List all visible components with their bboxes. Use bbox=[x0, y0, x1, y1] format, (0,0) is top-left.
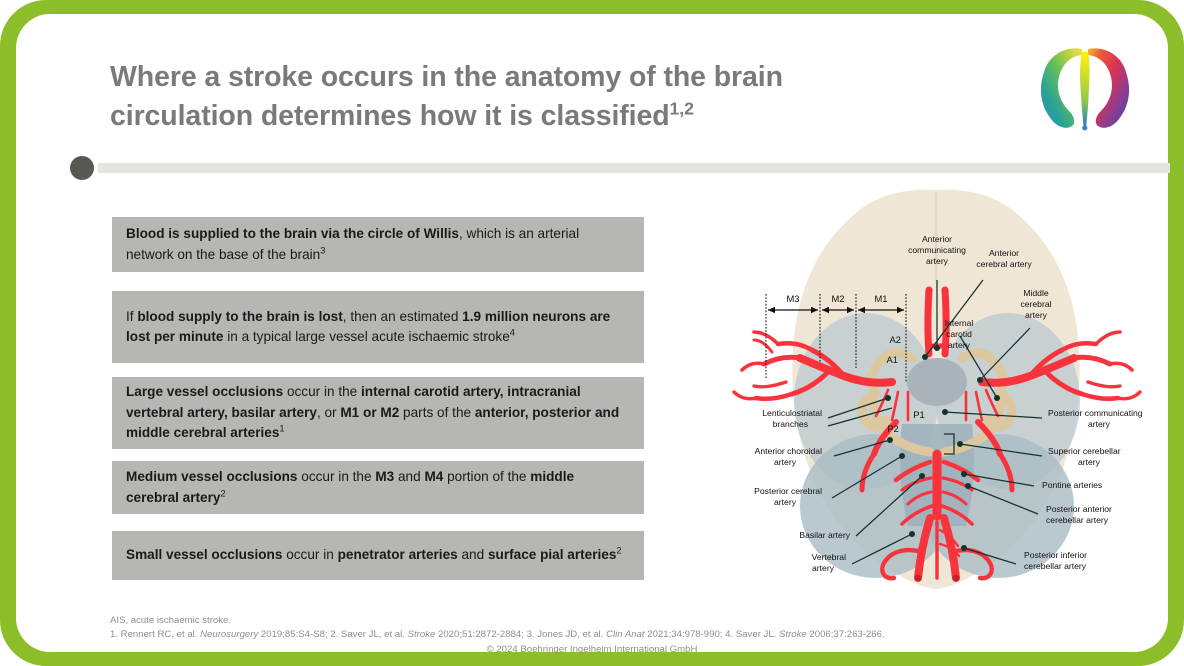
segment-label-m3: M3 bbox=[786, 293, 799, 304]
inline-label-p2: P2 bbox=[887, 423, 898, 434]
footnotes: AIS, acute ischaemic stroke. 1. Rennert … bbox=[110, 614, 1110, 642]
segment-label-m1: M1 bbox=[874, 293, 887, 304]
midbrain bbox=[907, 358, 967, 406]
circle-of-willis-diagram: M3 M2 M1 A2 A1 P1 P2 bbox=[716, 186, 1156, 598]
box-text: Large vessel occlusions occur in the int… bbox=[126, 382, 630, 443]
content-box-small-vessel: Small vessel occlusions occur in penetra… bbox=[112, 531, 644, 580]
abbreviation-line: AIS, acute ischaemic stroke. bbox=[110, 614, 1110, 628]
vessel-end-right bbox=[953, 575, 960, 582]
content-box-medium-vessel: Medium vessel occlusions occur in the M3… bbox=[112, 461, 644, 514]
label-pontine-arteries: Pontine arteries bbox=[1042, 480, 1102, 490]
brain-logo-icon bbox=[1035, 42, 1135, 132]
page-title: Where a stroke occurs in the anatomy of … bbox=[110, 58, 910, 136]
label-middle-cerebral-artery: Middlecerebralartery bbox=[1020, 288, 1051, 320]
label-posterior-inferior-cerebellar-artery: Posterior inferiorcerebellar artery bbox=[1024, 550, 1087, 571]
content-box-neuron-loss: If blood supply to the brain is lost, th… bbox=[112, 291, 644, 363]
box-text: Small vessel occlusions occur in penetra… bbox=[126, 545, 622, 565]
title-line-2: circulation determines how it is classif… bbox=[110, 100, 670, 132]
inline-label-a2: A2 bbox=[890, 334, 901, 345]
slide-green-frame: Where a stroke occurs in the anatomy of … bbox=[0, 0, 1184, 666]
label-internal-carotid-artery: Internalcarotidartery bbox=[945, 318, 974, 350]
reference-line: 1. Rennert RC, et al. Neurosurgery 2019;… bbox=[110, 628, 1110, 642]
label-basilar-artery: Basilar artery bbox=[799, 530, 850, 540]
content-box-large-vessel: Large vessel occlusions occur in the int… bbox=[112, 377, 644, 449]
slide-card: Where a stroke occurs in the anatomy of … bbox=[16, 14, 1168, 652]
divider-bar bbox=[98, 163, 1170, 173]
copyright-line: © 2024 Boehringer Ingelheim Internationa… bbox=[16, 644, 1168, 655]
label-posterior-anterior-cerebellar-artery: Posterior anteriorcerebellar artery bbox=[1046, 504, 1112, 525]
content-box-circle-of-willis: Blood is supplied to the brain via the c… bbox=[112, 217, 644, 272]
box-text: If blood supply to the brain is lost, th… bbox=[126, 307, 630, 348]
box-text: Medium vessel occlusions occur in the M3… bbox=[126, 467, 630, 508]
divider-dot bbox=[70, 156, 94, 180]
inline-label-a1: A1 bbox=[887, 354, 898, 365]
title-line-1: Where a stroke occurs in the anatomy of … bbox=[110, 61, 783, 93]
vessel-end-left bbox=[915, 575, 922, 582]
title-superscript: 1,2 bbox=[670, 98, 694, 118]
inline-label-p1: P1 bbox=[913, 409, 924, 420]
box-text: Blood is supplied to the brain via the c… bbox=[126, 224, 630, 265]
segment-label-m2: M2 bbox=[831, 293, 844, 304]
